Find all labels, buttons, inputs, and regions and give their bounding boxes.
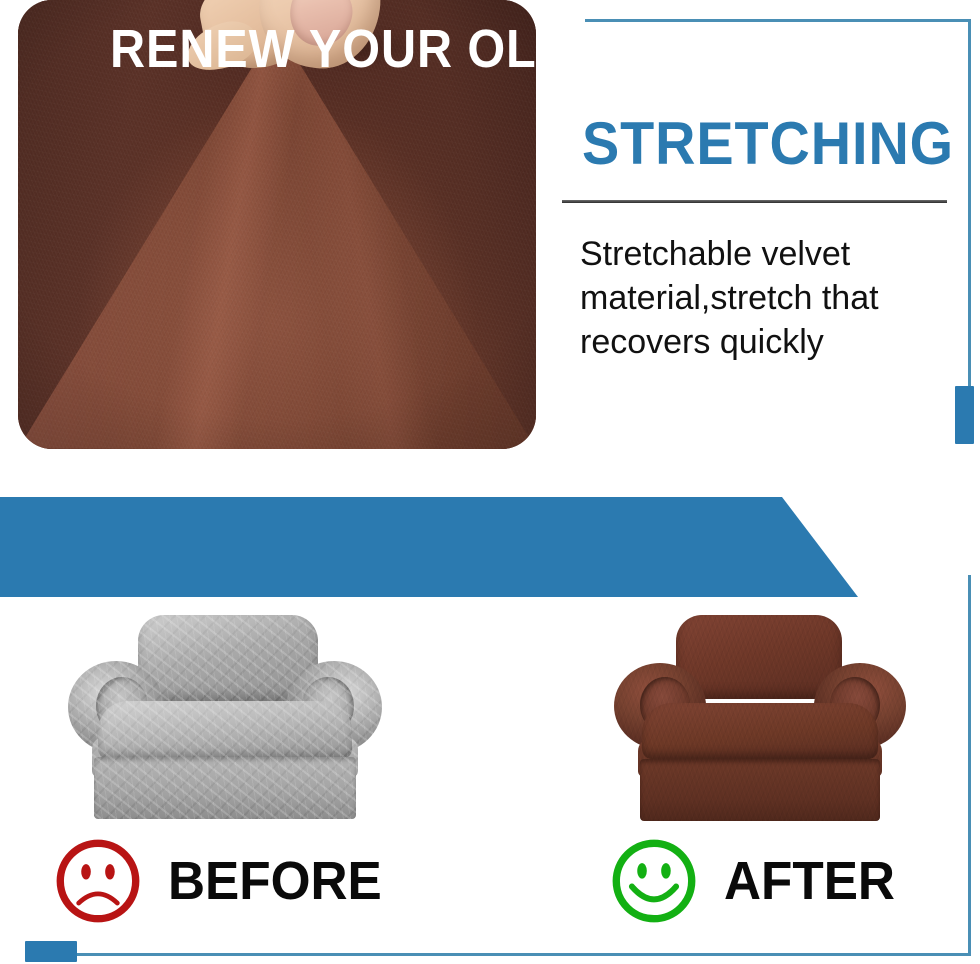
before-label: BEFORE <box>168 850 382 912</box>
sad-face-icon <box>52 835 144 927</box>
heading-divider <box>562 200 947 203</box>
stretching-description: Stretchable velvet material,stretch that… <box>580 232 952 365</box>
stretching-heading: STRETCHING <box>582 114 954 174</box>
after-chair-image <box>610 607 910 822</box>
product-feature-infographic: STRETCHING Stretchable velvet material,s… <box>0 0 980 964</box>
renew-banner <box>0 497 860 597</box>
before-label-row: BEFORE <box>52 835 393 927</box>
after-label-row: AFTER <box>608 835 904 927</box>
chair-skirt <box>640 759 880 821</box>
chair-seat-cushion <box>642 703 878 759</box>
happy-face-icon <box>608 835 700 927</box>
after-label: AFTER <box>724 850 895 912</box>
before-chair-image <box>60 607 390 822</box>
before-after-comparison: BEFORE AFTER <box>0 597 980 964</box>
chair-seat-cushion <box>98 701 352 759</box>
renew-banner-text: RENEW YOUR OLD SOFA <box>110 14 723 84</box>
chair-skirt <box>94 757 356 819</box>
